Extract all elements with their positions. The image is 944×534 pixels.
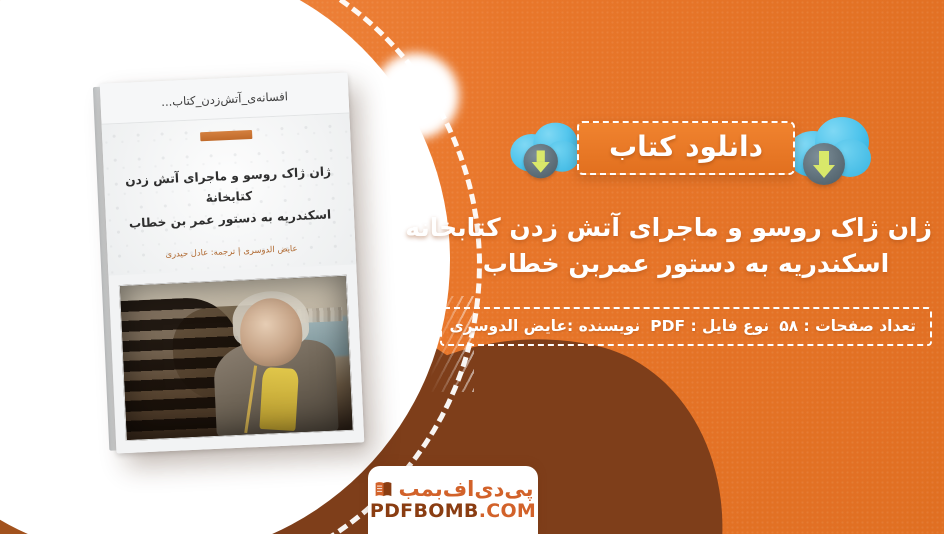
meta-filetype: نوع فایل : PDF xyxy=(650,317,769,335)
page-title: ژان ژاک روسو و ماجرای آتش زدن کتابخانه ا… xyxy=(440,210,932,281)
logo-domain: PDFBOMB.COM xyxy=(370,502,536,521)
book-cover-preview[interactable]: افسانه‌ی_آتش‌زدن_کتاب... ژان ژاک روسو و … xyxy=(100,73,365,454)
book-cover-artwork xyxy=(119,275,354,441)
page-title-line1: ژان ژاک روسو و ماجرای آتش زدن کتابخانه xyxy=(440,210,932,246)
site-logo[interactable]: پی‌دی‌اف‌بمب PDFBOMB.COM xyxy=(368,466,538,534)
book-cover-face: افسانه‌ی_آتش‌زدن_کتاب... ژان ژاک روسو و … xyxy=(100,73,365,454)
book-icon xyxy=(373,479,394,500)
download-row: دانلود کتاب xyxy=(440,100,932,196)
meta-author: نویسنده :عایض الدوسری xyxy=(449,317,640,335)
download-book-label: دانلود کتاب xyxy=(609,132,763,161)
logo-domain-tld: .COM xyxy=(479,500,536,522)
book-cover-filename: افسانه‌ی_آتش‌زدن_کتاب... xyxy=(116,87,332,111)
artwork-vignette xyxy=(120,276,353,440)
cloud-download-icon-right xyxy=(509,121,580,175)
meta-pages: تعداد صفحات : ۵۸ xyxy=(779,317,916,335)
download-arrow-badge xyxy=(524,144,558,178)
info-panel: دانلود کتاب ژان ژاک روسو و ماجرای آتش زد… xyxy=(440,100,932,346)
book-cover-title: ژان ژاک روسو و ماجرای آتش زدن کتابخانهٔ … xyxy=(118,161,341,235)
poster-canvas: افسانه‌ی_آتش‌زدن_کتاب... ژان ژاک روسو و … xyxy=(0,0,944,534)
logo-domain-main: PDFBOMB xyxy=(370,500,479,522)
logo-persian-text: پی‌دی‌اف‌بمب xyxy=(399,479,534,500)
download-arrow-badge xyxy=(803,143,845,185)
metadata-box: تعداد صفحات : ۵۸ نوع فایل : PDF نویسنده … xyxy=(440,307,932,346)
book-cover-title-area: ژان ژاک روسو و ماجرای آتش زدن کتابخانهٔ … xyxy=(102,114,357,276)
logo-top-row: پی‌دی‌اف‌بمب xyxy=(373,479,534,500)
download-book-button[interactable]: دانلود کتاب xyxy=(577,121,795,175)
cloud-download-icon-left xyxy=(785,115,871,181)
page-title-line2: اسکندریه به دستور عمربن خطاب xyxy=(440,246,932,282)
book-cover-title-line1: ژان ژاک روسو و ماجرای آتش زدن کتابخانهٔ xyxy=(125,164,331,205)
book-cover-title-line2: اسکندریه به دستور عمر بن خطاب xyxy=(129,207,332,230)
